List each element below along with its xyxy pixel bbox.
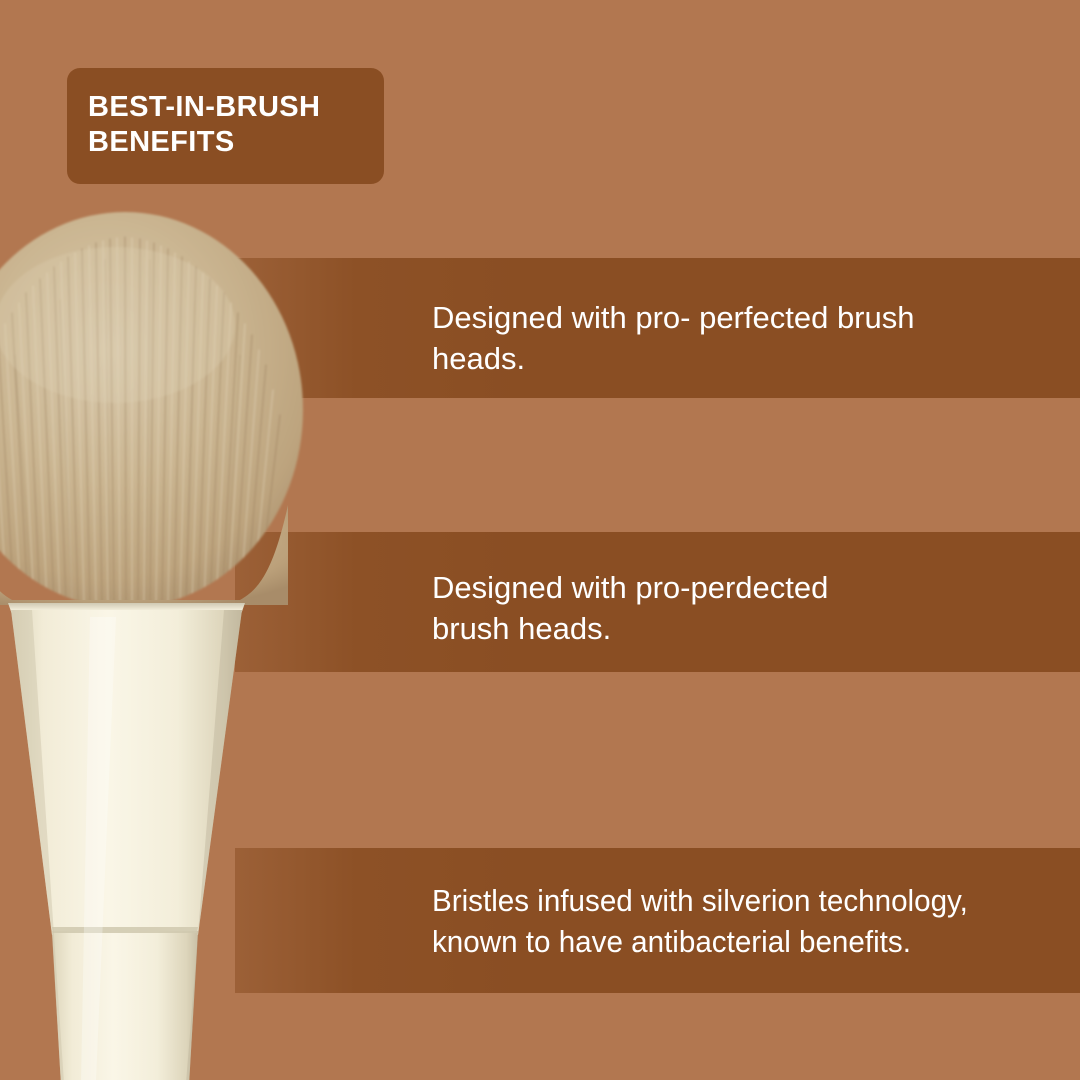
title-line-1: BEST-IN-BRUSH [88, 90, 358, 125]
benefit-text-3: Bristles infused with silverion technolo… [432, 880, 1062, 962]
benefit-text-2: Designed with pro-perdected brush heads. [432, 567, 1032, 649]
title-badge: BEST-IN-BRUSH BENEFITS [67, 68, 384, 184]
promo-graphic: BEST-IN-BRUSH BENEFITS Designed with pro… [0, 0, 1080, 1080]
benefit-text-1: Designed with pro- perfected brush heads… [432, 297, 1032, 379]
title-line-2: BENEFITS [88, 125, 358, 160]
